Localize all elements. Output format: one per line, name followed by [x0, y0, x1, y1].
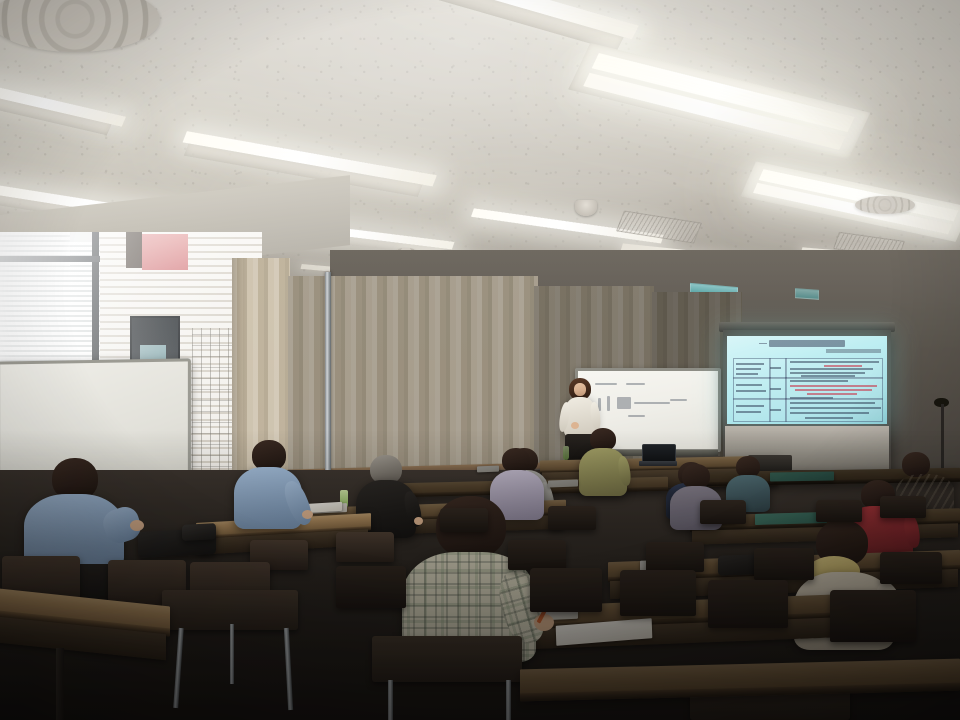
- chair-mid-right-3[interactable]: [880, 552, 942, 584]
- window-transom: [0, 256, 100, 262]
- whiteboard-writing-4: [607, 396, 610, 411]
- seminar-room-photo: [0, 0, 960, 720]
- chair-front-center-2[interactable]: [530, 568, 602, 612]
- chair-front-center-1[interactable]: [336, 566, 406, 608]
- slide-cell-r3c3: [785, 398, 883, 422]
- whiteboard-stand-pole: [325, 272, 331, 490]
- chair-leg-5: [506, 680, 511, 720]
- chair-front-right-1[interactable]: [708, 580, 788, 628]
- chair-mid-right-2[interactable]: [754, 548, 814, 580]
- ceiling-speaker-icon-2: [855, 196, 915, 214]
- chair-leg-4: [388, 680, 393, 720]
- sprinkler-icon: [575, 200, 597, 216]
- chair-back-center-2[interactable]: [548, 506, 596, 530]
- slide-subtitle-text: [826, 349, 880, 353]
- chair-mid-left-1[interactable]: [336, 532, 394, 562]
- attendee-4-hand: [534, 614, 554, 631]
- slide-cell-r1c1: [733, 358, 770, 379]
- chair-back-right-3[interactable]: [880, 496, 926, 518]
- chair-front-right-2[interactable]: [830, 590, 916, 642]
- whiteboard-writing-8: [628, 415, 645, 417]
- whiteboard-writing-2: [626, 383, 646, 385]
- exterior-dark-stripe: [126, 232, 142, 268]
- desk-leg-closest: [56, 648, 64, 720]
- slide-cell-r2c1: [733, 377, 770, 400]
- chair-mid-right-1[interactable]: [646, 542, 704, 572]
- attendee-2: [230, 440, 308, 550]
- slide-title-text: [769, 340, 846, 346]
- chair-front-center-3[interactable]: [620, 570, 696, 616]
- bag-2: [182, 523, 216, 541]
- slide-cell-r3c1: [733, 398, 770, 422]
- chair-back-right-1[interactable]: [700, 500, 746, 524]
- chair-leg-3: [230, 624, 234, 684]
- chair-back-center-1[interactable]: [440, 508, 488, 532]
- desk-mat-back-right: [770, 471, 834, 481]
- wall-sign-2: [795, 288, 819, 300]
- whiteboard-writing-7: [670, 399, 687, 401]
- paper-back-center: [548, 479, 578, 487]
- projected-slide: [727, 336, 887, 424]
- chair-back-right-2[interactable]: [816, 500, 862, 522]
- chair-closest-2[interactable]: [372, 636, 522, 682]
- slide-cell-r2c3: [785, 377, 883, 400]
- exterior-pink-panel: [142, 234, 188, 270]
- chair-mid-center[interactable]: [508, 540, 566, 570]
- attendee-6: [578, 428, 628, 498]
- attendee-1-hand: [130, 520, 144, 531]
- slide-cell-r1c3: [785, 358, 883, 379]
- presenter-face: [574, 383, 586, 396]
- whiteboard-writing-6: [634, 402, 670, 404]
- attendee-2-hand: [302, 510, 313, 519]
- whiteboard-writing-5: [617, 397, 631, 409]
- front-desk-bottle: [563, 446, 569, 460]
